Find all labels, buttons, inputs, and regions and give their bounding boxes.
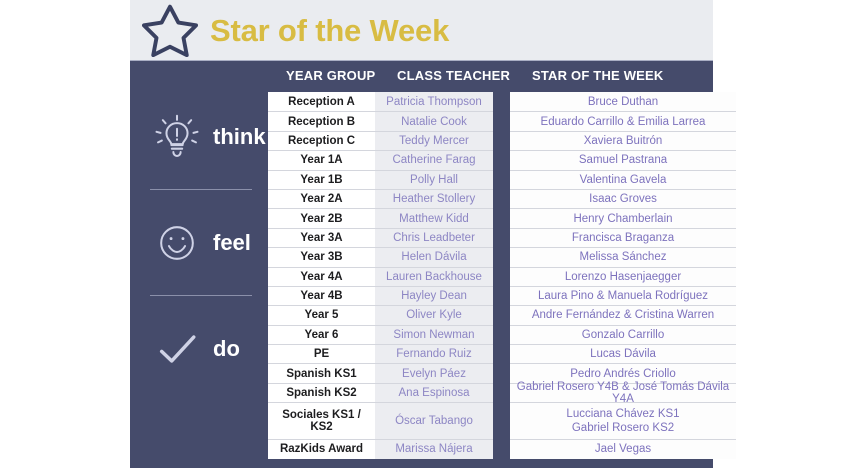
cell-class-teacher: Catherine Farag	[375, 150, 493, 169]
cell-star-of-the-week: Lucciana Chávez KS1Gabriel Rosero KS2	[510, 402, 736, 439]
cell-class-teacher: Marissa Nájera	[375, 439, 493, 458]
cell-star-of-the-week: Xaviera Buitrón	[510, 131, 736, 150]
cell-year-group: Year 6	[268, 325, 375, 344]
cell-star-of-the-week: Henry Chamberlain	[510, 208, 736, 227]
cell-year-group: PE	[268, 344, 375, 363]
rail-item-feel[interactable]: feel	[130, 190, 268, 295]
column-class-teacher: Patricia ThompsonNatalie CookTeddy Merce…	[375, 92, 493, 459]
cell-class-teacher: Oliver Kyle	[375, 305, 493, 324]
checkmark-icon	[154, 326, 200, 372]
column-header-class-teacher: CLASS TEACHER	[397, 68, 510, 83]
cell-class-teacher: Evelyn Páez	[375, 363, 493, 382]
rail-label-think: think	[213, 126, 266, 148]
column-star-of-the-week: Bruce DuthanEduardo Carrillo & Emilia La…	[510, 92, 736, 459]
cell-star-of-the-week: Francisca Braganza	[510, 228, 736, 247]
cell-class-teacher: Polly Hall	[375, 170, 493, 189]
cell-year-group: Year 4A	[268, 267, 375, 286]
rail-item-think[interactable]: think	[130, 84, 268, 189]
cell-class-teacher: Simon Newman	[375, 325, 493, 344]
cell-class-teacher: Natalie Cook	[375, 111, 493, 130]
cell-year-group: Year 2A	[268, 189, 375, 208]
cell-star-of-the-week: Eduardo Carrillo & Emilia Larrea	[510, 111, 736, 130]
cell-star-of-the-week: Laura Pino & Manuela Rodríguez	[510, 286, 736, 305]
column-header-year-group: YEAR GROUP	[286, 68, 375, 83]
slide-root: Star of the Week	[0, 0, 844, 474]
cell-class-teacher: Hayley Dean	[375, 286, 493, 305]
cell-star-of-the-week: Jael Vegas	[510, 439, 736, 458]
cell-year-group: Year 1A	[268, 150, 375, 169]
cell-star-of-the-week: Lorenzo Hasenjaegger	[510, 267, 736, 286]
cell-year-group: Spanish KS1	[268, 363, 375, 382]
cell-year-group: Spanish KS2	[268, 383, 375, 402]
category-rail: think feel do	[130, 84, 268, 468]
column-year-group: Reception AReception BReception CYear 1A…	[268, 92, 375, 459]
star-name-line-2: Gabriel Rosero KS2	[572, 421, 674, 435]
cell-star-of-the-week: Lucas Dávila	[510, 344, 736, 363]
cell-star-of-the-week: Samuel Pastrana	[510, 150, 736, 169]
cell-star-of-the-week: Pedro Andrés Criollo	[510, 363, 736, 382]
rail-item-do[interactable]: do	[130, 296, 268, 401]
cell-year-group: Year 4B	[268, 286, 375, 305]
cell-year-group: Year 1B	[268, 170, 375, 189]
cell-year-group: RazKids Award	[268, 439, 375, 458]
column-header-star: STAR OF THE WEEK	[532, 68, 664, 83]
lightbulb-exclamation-icon	[154, 114, 200, 160]
cell-star-of-the-week: Bruce Duthan	[510, 92, 736, 111]
panel-top-edge	[130, 60, 713, 61]
table-header-row: YEAR GROUP CLASS TEACHER STAR OF THE WEE…	[268, 68, 844, 90]
cell-star-of-the-week: Isaac Groves	[510, 189, 736, 208]
cell-class-teacher: Heather Stollery	[375, 189, 493, 208]
cell-year-group: Year 2B	[268, 208, 375, 227]
cell-class-teacher: Ana Espinosa	[375, 383, 493, 402]
star-outline-icon	[142, 3, 198, 57]
cell-class-teacher: Fernando Ruiz	[375, 344, 493, 363]
cell-class-teacher: Teddy Mercer	[375, 131, 493, 150]
smiley-face-icon	[154, 220, 200, 266]
page-title: Star of the Week	[210, 15, 449, 46]
cell-class-teacher: Patricia Thompson	[375, 92, 493, 111]
cell-class-teacher: Óscar Tabango	[375, 402, 493, 439]
cell-star-of-the-week: Gabriel Rosero Y4B & José Tomás Dávila Y…	[510, 383, 736, 402]
cell-year-group: Year 3A	[268, 228, 375, 247]
star-name-line-1: Lucciana Chávez KS1	[566, 407, 679, 421]
cell-star-of-the-week: Melissa Sánchez	[510, 247, 736, 266]
cell-year-group: Reception B	[268, 111, 375, 130]
cell-year-group: Reception C	[268, 131, 375, 150]
title-banner: Star of the Week	[130, 0, 713, 60]
cell-star-of-the-week: Gonzalo Carrillo	[510, 325, 736, 344]
cell-year-group: Year 5	[268, 305, 375, 324]
cell-year-group: Sociales KS1 / KS2	[268, 402, 375, 439]
cell-star-of-the-week: Andre Fernández & Cristina Warren	[510, 305, 736, 324]
cell-star-of-the-week: Valentina Gavela	[510, 170, 736, 189]
cell-class-teacher: Matthew Kidd	[375, 208, 493, 227]
cell-year-group: Year 3B	[268, 247, 375, 266]
star-of-the-week-table: Reception AReception BReception CYear 1A…	[268, 92, 844, 459]
cell-class-teacher: Helen Dávila	[375, 247, 493, 266]
cell-year-group: Reception A	[268, 92, 375, 111]
rail-label-feel: feel	[213, 232, 251, 254]
cell-class-teacher: Lauren Backhouse	[375, 267, 493, 286]
rail-label-do: do	[213, 338, 240, 360]
cell-class-teacher: Chris Leadbeter	[375, 228, 493, 247]
